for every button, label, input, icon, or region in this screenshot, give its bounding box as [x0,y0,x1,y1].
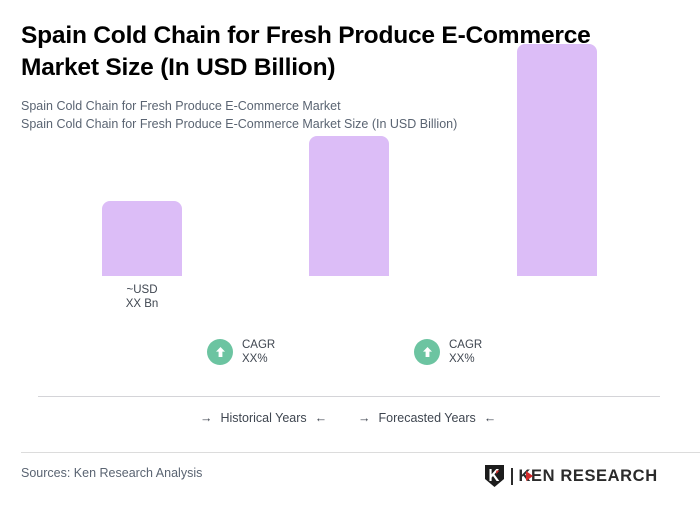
footer-divider [21,452,700,453]
slide-root: Spain Cold Chain for Fresh Produce E-Com… [0,0,700,520]
ken-research-shield-icon [484,464,505,488]
arrow-left-icon: ← [315,412,328,425]
chart-baseline [38,396,660,397]
forecasted-years-label: Forecasted Years [379,411,476,425]
bar-value-label-1-line2: XX Bn [102,297,182,311]
bar-2[interactable] [309,136,389,276]
ken-research-logo: KEN RESEARCH [484,464,658,488]
logo-wordmark-text: KEN RESEARCH [519,467,658,485]
arrow-up-icon [207,339,233,365]
bar-value-label-1: ~USD XX Bn [102,283,182,312]
bar-1[interactable] [102,201,182,276]
cagr-badge-1-line1: CAGR [242,338,275,352]
arrow-up-icon [414,339,440,365]
logo-divider [511,468,513,485]
bar-value-label-1-line1: ~USD [102,283,182,297]
historical-years-group: → Historical Years ← [200,411,327,425]
logo-wordmark: KEN RESEARCH [519,468,658,485]
arrow-right-icon: → [200,412,213,425]
chart-plot-area: ~USD XX Bn CAGR XX% ~USD 4.7 Bn [0,0,700,400]
logo-accent-triangle-icon [526,471,533,481]
arrow-right-icon: → [358,412,371,425]
bar-3[interactable] [517,44,597,276]
arrow-left-icon: ← [484,412,497,425]
cagr-badge-2-line1: CAGR [449,338,482,352]
sources-text: Sources: Ken Research Analysis [21,466,202,480]
cagr-badge-2-line2: XX% [449,352,482,366]
cagr-badge-2-text: CAGR XX% [449,338,482,367]
historical-years-label: Historical Years [221,411,307,425]
cagr-badge-1-text: CAGR XX% [242,338,275,367]
cagr-badge-2[interactable]: CAGR XX% [414,338,482,367]
cagr-badge-1[interactable]: CAGR XX% [207,338,275,367]
years-axis-row: → Historical Years ← → Forecasted Years … [38,405,660,433]
forecasted-years-group: → Forecasted Years ← [358,411,496,425]
cagr-badge-1-line2: XX% [242,352,275,366]
